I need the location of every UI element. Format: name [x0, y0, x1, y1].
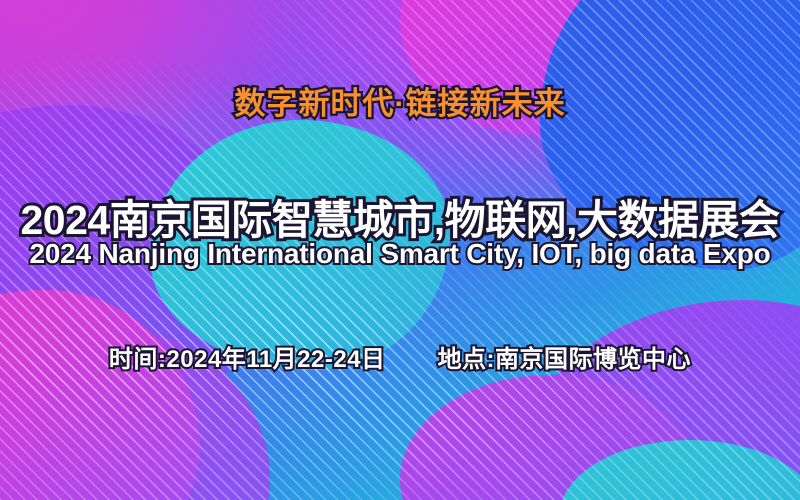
event-venue: 地点:南京国际博览中心: [438, 339, 692, 374]
poster-info-row: 时间:2024年11月22-24日 地点:南京国际博览中心: [0, 339, 800, 374]
event-poster: 数字新时代·链接新未来 2024南京国际智慧城市,物联网,大数据展会 2024 …: [0, 0, 800, 500]
poster-content: 数字新时代·链接新未来 2024南京国际智慧城市,物联网,大数据展会 2024 …: [0, 0, 800, 500]
poster-tagline: 数字新时代·链接新未来: [0, 78, 800, 123]
poster-title-chinese: 2024南京国际智慧城市,物联网,大数据展会: [0, 186, 800, 246]
event-date: 时间:2024年11月22-24日: [109, 339, 386, 374]
poster-title-english: 2024 Nanjing International Smart City, I…: [0, 238, 800, 270]
